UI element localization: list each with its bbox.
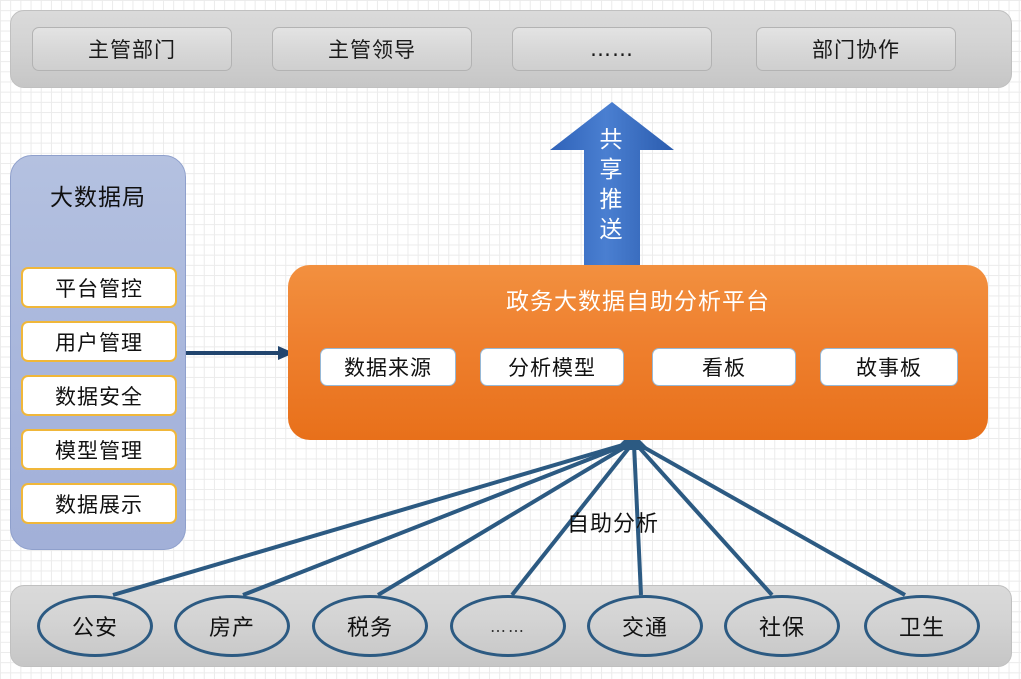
platform-item-1[interactable]: 分析模型 [480,348,624,386]
source-node-6[interactable]: 卫生 [864,595,980,657]
sidebar-item-0[interactable]: 平台管控 [21,267,177,308]
share-push-label: 共 享 推 送 [594,125,628,245]
sidebar-item-2[interactable]: 数据安全 [21,375,177,416]
source-node-2[interactable]: 税务 [312,595,428,657]
big-data-bureau-panel: 大数据局 平台管控用户管理数据安全模型管理数据展示 [10,155,186,550]
header-chip-3[interactable]: 部门协作 [756,27,956,71]
diagram-canvas: 共 享 推 送 大数据局 平台管控用户管理数据安全模型管理数据展示 政务大数据自… [0,0,1021,679]
header-chip-2[interactable]: …… [512,27,712,71]
platform-panel: 政务大数据自助分析平台 数据来源分析模型看板故事板 [288,265,988,440]
platform-item-0[interactable]: 数据来源 [320,348,456,386]
header-chip-0[interactable]: 主管部门 [32,27,232,71]
source-node-3[interactable]: …… [450,595,566,657]
header-chip-1[interactable]: 主管领导 [272,27,472,71]
sidebar-to-platform-arrow [186,346,294,360]
source-node-5[interactable]: 社保 [724,595,840,657]
source-node-1[interactable]: 房产 [174,595,290,657]
source-node-4[interactable]: 交通 [587,595,703,657]
platform-item-3[interactable]: 故事板 [820,348,958,386]
sidebar-item-1[interactable]: 用户管理 [21,321,177,362]
platform-item-2[interactable]: 看板 [652,348,796,386]
self-analysis-label: 自助分析 [548,506,678,538]
sidebar-title: 大数据局 [11,178,185,212]
sidebar-item-3[interactable]: 模型管理 [21,429,177,470]
source-node-0[interactable]: 公安 [37,595,153,657]
platform-title: 政务大数据自助分析平台 [288,282,988,316]
sidebar-item-4[interactable]: 数据展示 [21,483,177,524]
